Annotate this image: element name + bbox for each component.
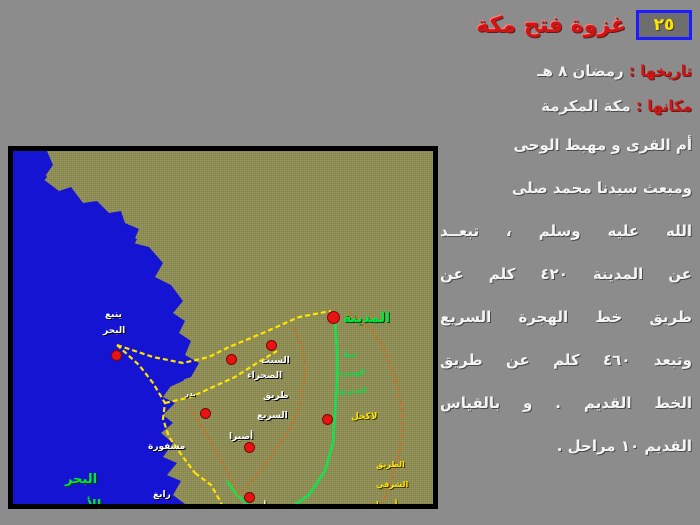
body-line-6: وتبعد ٤٦٠ كلم عن طريق <box>440 351 692 369</box>
route-rabigh-link <box>195 473 225 504</box>
map-frame: البحر الأحمر المدينة مكة جدة ينبع البحر … <box>8 146 438 509</box>
city-dot-udayra <box>245 443 254 452</box>
title-row: ٢٥ غزوة فتح مكة <box>442 6 692 44</box>
body-line-7: الخط القديم . و بالقياس <box>440 394 692 412</box>
body-line-5: طريق خط الهجرة السريع <box>440 308 692 326</box>
body-line-1: أم القرى و مهبط الوحى <box>440 136 692 154</box>
body-line-3: الله عليه وسلم ، تبعــد <box>440 222 692 240</box>
meta-row-date: تاريخها : رمضان ٨ هـ <box>440 62 692 80</box>
meta-row-place: مكانها : مكة المكرمة <box>440 97 692 115</box>
route-old-coastal <box>117 311 331 363</box>
meta-value-date: رمضان ٨ هـ <box>537 62 623 80</box>
route-eastern-inner <box>239 327 305 495</box>
city-dot-lakhal <box>323 415 332 424</box>
slide-root: ٢٥ غزوة فتح مكة تاريخها : رمضان ٨ هـ مكا… <box>0 0 700 525</box>
city-dot-yanbu <box>112 351 121 360</box>
map-canvas: البحر الأحمر المدينة مكة جدة ينبع البحر … <box>13 151 433 504</box>
body-line-2: ومبعث سيدنا محمد صلى <box>440 179 692 197</box>
city-dot-safra <box>227 355 236 364</box>
body-line-4: عن المدينة ٤٢٠ كلم عن <box>440 265 692 283</box>
city-dot-madinah <box>328 312 339 323</box>
city-dot-sabt <box>267 341 276 350</box>
meta-value-place: مكة المكرمة <box>541 97 631 115</box>
slide-number-badge: ٢٥ <box>636 10 692 40</box>
route-eastern-brown <box>343 313 403 504</box>
route-badr-branch <box>165 351 277 403</box>
map-routes-layer <box>13 151 433 504</box>
route-badr-brown <box>191 407 239 495</box>
body-line-8: القديم ١٠ مراحل . <box>440 437 692 455</box>
route-old-west <box>117 345 195 473</box>
city-dot-badr <box>201 409 210 418</box>
text-column: ٢٥ غزوة فتح مكة تاريخها : رمضان ٨ هـ مكا… <box>438 0 700 525</box>
page-title: غزوة فتح مكة <box>476 13 626 38</box>
city-dot-juhfa <box>245 493 254 502</box>
meta-label-place: مكانها : <box>636 97 692 115</box>
meta-label-date: تاريخها : <box>629 62 692 80</box>
